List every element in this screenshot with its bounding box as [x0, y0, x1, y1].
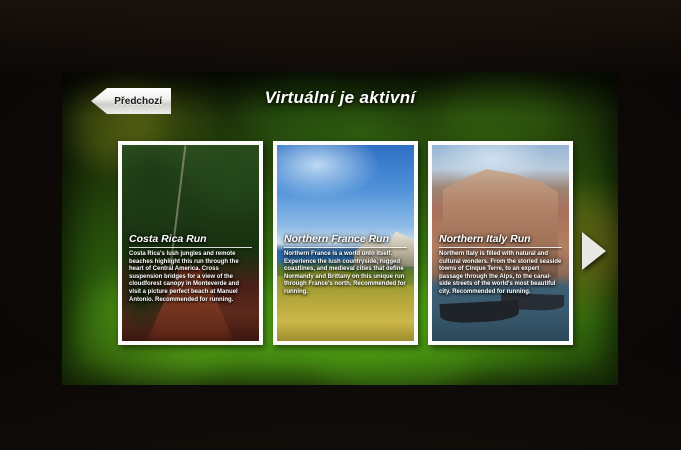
card-list: Costa Rica Run Costa Rica's lush jungles…	[118, 141, 573, 345]
card-photo: Northern Italy Run Northern Italy is fil…	[432, 145, 569, 341]
bokeh-blob	[242, 76, 352, 146]
virtual-mode-panel: Předchozí Virtuální je aktivní Costa Ric…	[62, 72, 618, 385]
card-title: Costa Rica Run	[129, 233, 252, 245]
card-overlay: Northern France Run Northern France is a…	[277, 233, 414, 303]
list-item[interactable]: Northern France Run Northern France is a…	[273, 141, 418, 345]
card-description: Northern Italy is filled with natural an…	[439, 251, 562, 297]
bokeh-blob	[442, 72, 562, 152]
title-divider	[284, 247, 407, 248]
triangle-right-icon[interactable]	[582, 232, 606, 270]
card-description: Northern France is a world unto itself. …	[284, 251, 407, 297]
list-item[interactable]: Northern Italy Run Northern Italy is fil…	[428, 141, 573, 345]
title-divider	[129, 247, 252, 248]
tv-screen: Předchozí Virtuální je aktivní Costa Ric…	[0, 0, 681, 450]
card-overlay: Northern Italy Run Northern Italy is fil…	[432, 233, 569, 303]
list-item[interactable]: Costa Rica Run Costa Rica's lush jungles…	[118, 141, 263, 345]
title-divider	[439, 247, 562, 248]
card-title: Northern Italy Run	[439, 233, 562, 245]
card-photo: Northern France Run Northern France is a…	[277, 145, 414, 341]
card-title: Northern France Run	[284, 233, 407, 245]
card-description: Costa Rica's lush jungles and remote bea…	[129, 251, 252, 304]
card-overlay: Costa Rica Run Costa Rica's lush jungles…	[122, 233, 259, 310]
page-title: Virtuální je aktivní	[62, 88, 618, 108]
card-photo: Costa Rica Run Costa Rica's lush jungles…	[122, 145, 259, 341]
